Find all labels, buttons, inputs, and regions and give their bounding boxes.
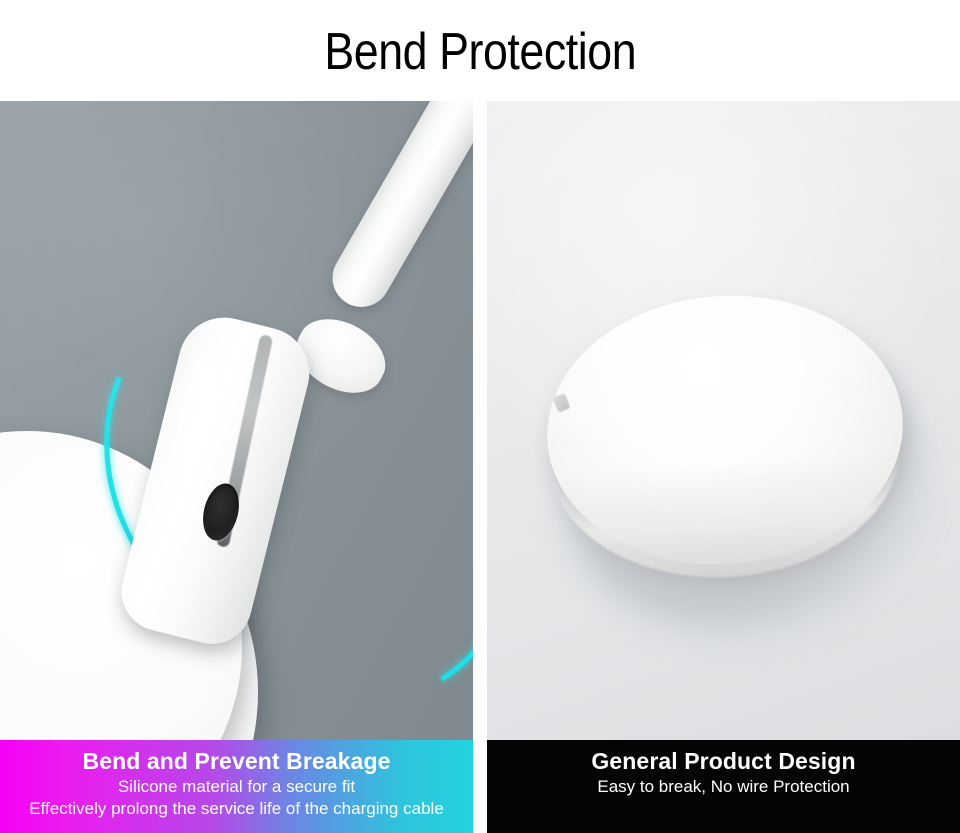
caption-general-product: General Product Design Easy to break, No… [487,740,960,833]
charging-cable [322,101,473,318]
photo-general-product [487,101,960,740]
photo-bend-protection [0,101,473,740]
panel-general-product: General Product Design Easy to break, No… [487,101,960,833]
caption-subline-1: Silicone material for a secure fit [118,776,355,798]
product-feature-graphic: Bend Protection Bend and Prevent Breakag… [0,0,960,833]
caption-subline-1: Easy to break, No wire Protection [597,776,849,798]
caption-bend-protection: Bend and Prevent Breakage Silicone mater… [0,740,473,833]
comparison-panels: Bend and Prevent Breakage Silicone mater… [0,101,960,833]
caption-headline: General Product Design [591,747,855,776]
caption-subline-2: Effectively prolong the service life of … [29,798,444,820]
panel-bend-protection: Bend and Prevent Breakage Silicone mater… [0,101,473,833]
caption-headline: Bend and Prevent Breakage [82,747,390,776]
page-title: Bend Protection [324,26,636,78]
title-bar: Bend Protection [0,0,960,101]
